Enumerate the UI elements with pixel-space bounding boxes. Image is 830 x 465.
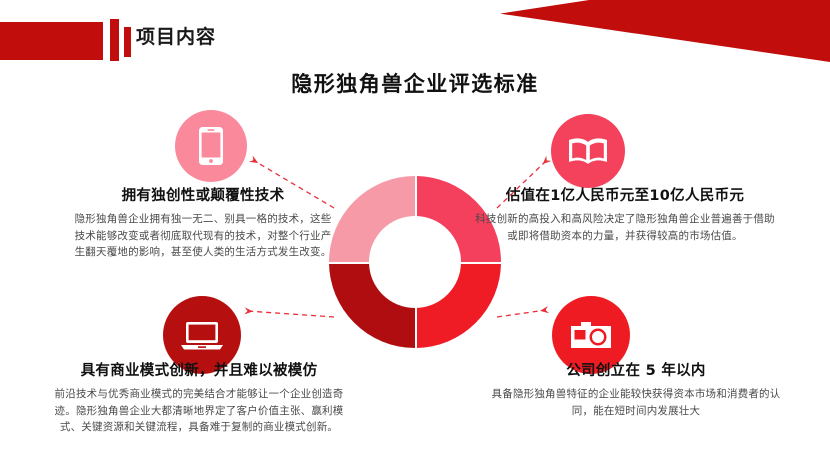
open-book-icon	[567, 135, 609, 167]
body-business-model: 前沿技术与优秀商业模式的完美结合才能够让一个企业创造奇迹。隐形独角兽企业大都清晰…	[44, 386, 354, 435]
heading-technology: 拥有独创性或颠覆性技术	[72, 188, 334, 205]
header-accent-bar-large	[110, 19, 119, 61]
icon-badge-valuation	[551, 114, 625, 188]
connector-to-company-age	[497, 310, 546, 317]
icon-badge-technology	[175, 110, 247, 182]
body-valuation: 科技创新的高投入和高风险决定了隐形独角兽企业普遍善于借助或即将借助资本的力量，并…	[470, 211, 780, 244]
text-block-technology: 拥有独创性或颠覆性技术 隐形独角兽企业拥有独一无二、别具一格的技术，这些技术能够…	[72, 188, 334, 260]
donut-center-hole	[369, 216, 461, 308]
body-technology: 隐形独角兽企业拥有独一无二、别具一格的技术，这些技术能够改变或者彻底取代现有的技…	[72, 211, 334, 260]
header-corner-shape	[500, 0, 830, 62]
text-block-valuation: 估值在1亿人民币元至10亿人民币元 科技创新的高投入和高风险决定了隐形独角兽企业…	[470, 188, 780, 244]
heading-valuation: 估值在1亿人民币元至10亿人民币元	[470, 188, 780, 205]
connector-to-business-model	[247, 311, 334, 317]
text-block-business-model: 具有商业模式创新，并且难以被模仿 前沿技术与优秀商业模式的完美结合才能够让一个企…	[44, 363, 354, 435]
heading-business-model: 具有商业模式创新，并且难以被模仿	[44, 363, 354, 380]
header-title: 项目内容	[136, 28, 216, 47]
laptop-icon	[180, 319, 224, 351]
heading-company-age: 公司创立在 5 年以内	[486, 363, 786, 380]
header-accent-bar-small	[124, 27, 131, 57]
page-title: 隐形独角兽企业评选标准	[0, 68, 830, 98]
text-block-company-age: 公司创立在 5 年以内 具备隐形独角兽特征的企业能较快获得资本市场和消费者的认同…	[486, 363, 786, 419]
smartphone-icon	[198, 126, 224, 166]
slide-canvas: 项目内容 隐形独角兽企业评选标准	[0, 0, 830, 465]
body-company-age: 具备隐形独角兽特征的企业能较快获得资本市场和消费者的认同，能在短时间内发展壮大	[486, 386, 786, 419]
camera-icon	[569, 318, 613, 352]
header-red-block	[0, 22, 103, 60]
